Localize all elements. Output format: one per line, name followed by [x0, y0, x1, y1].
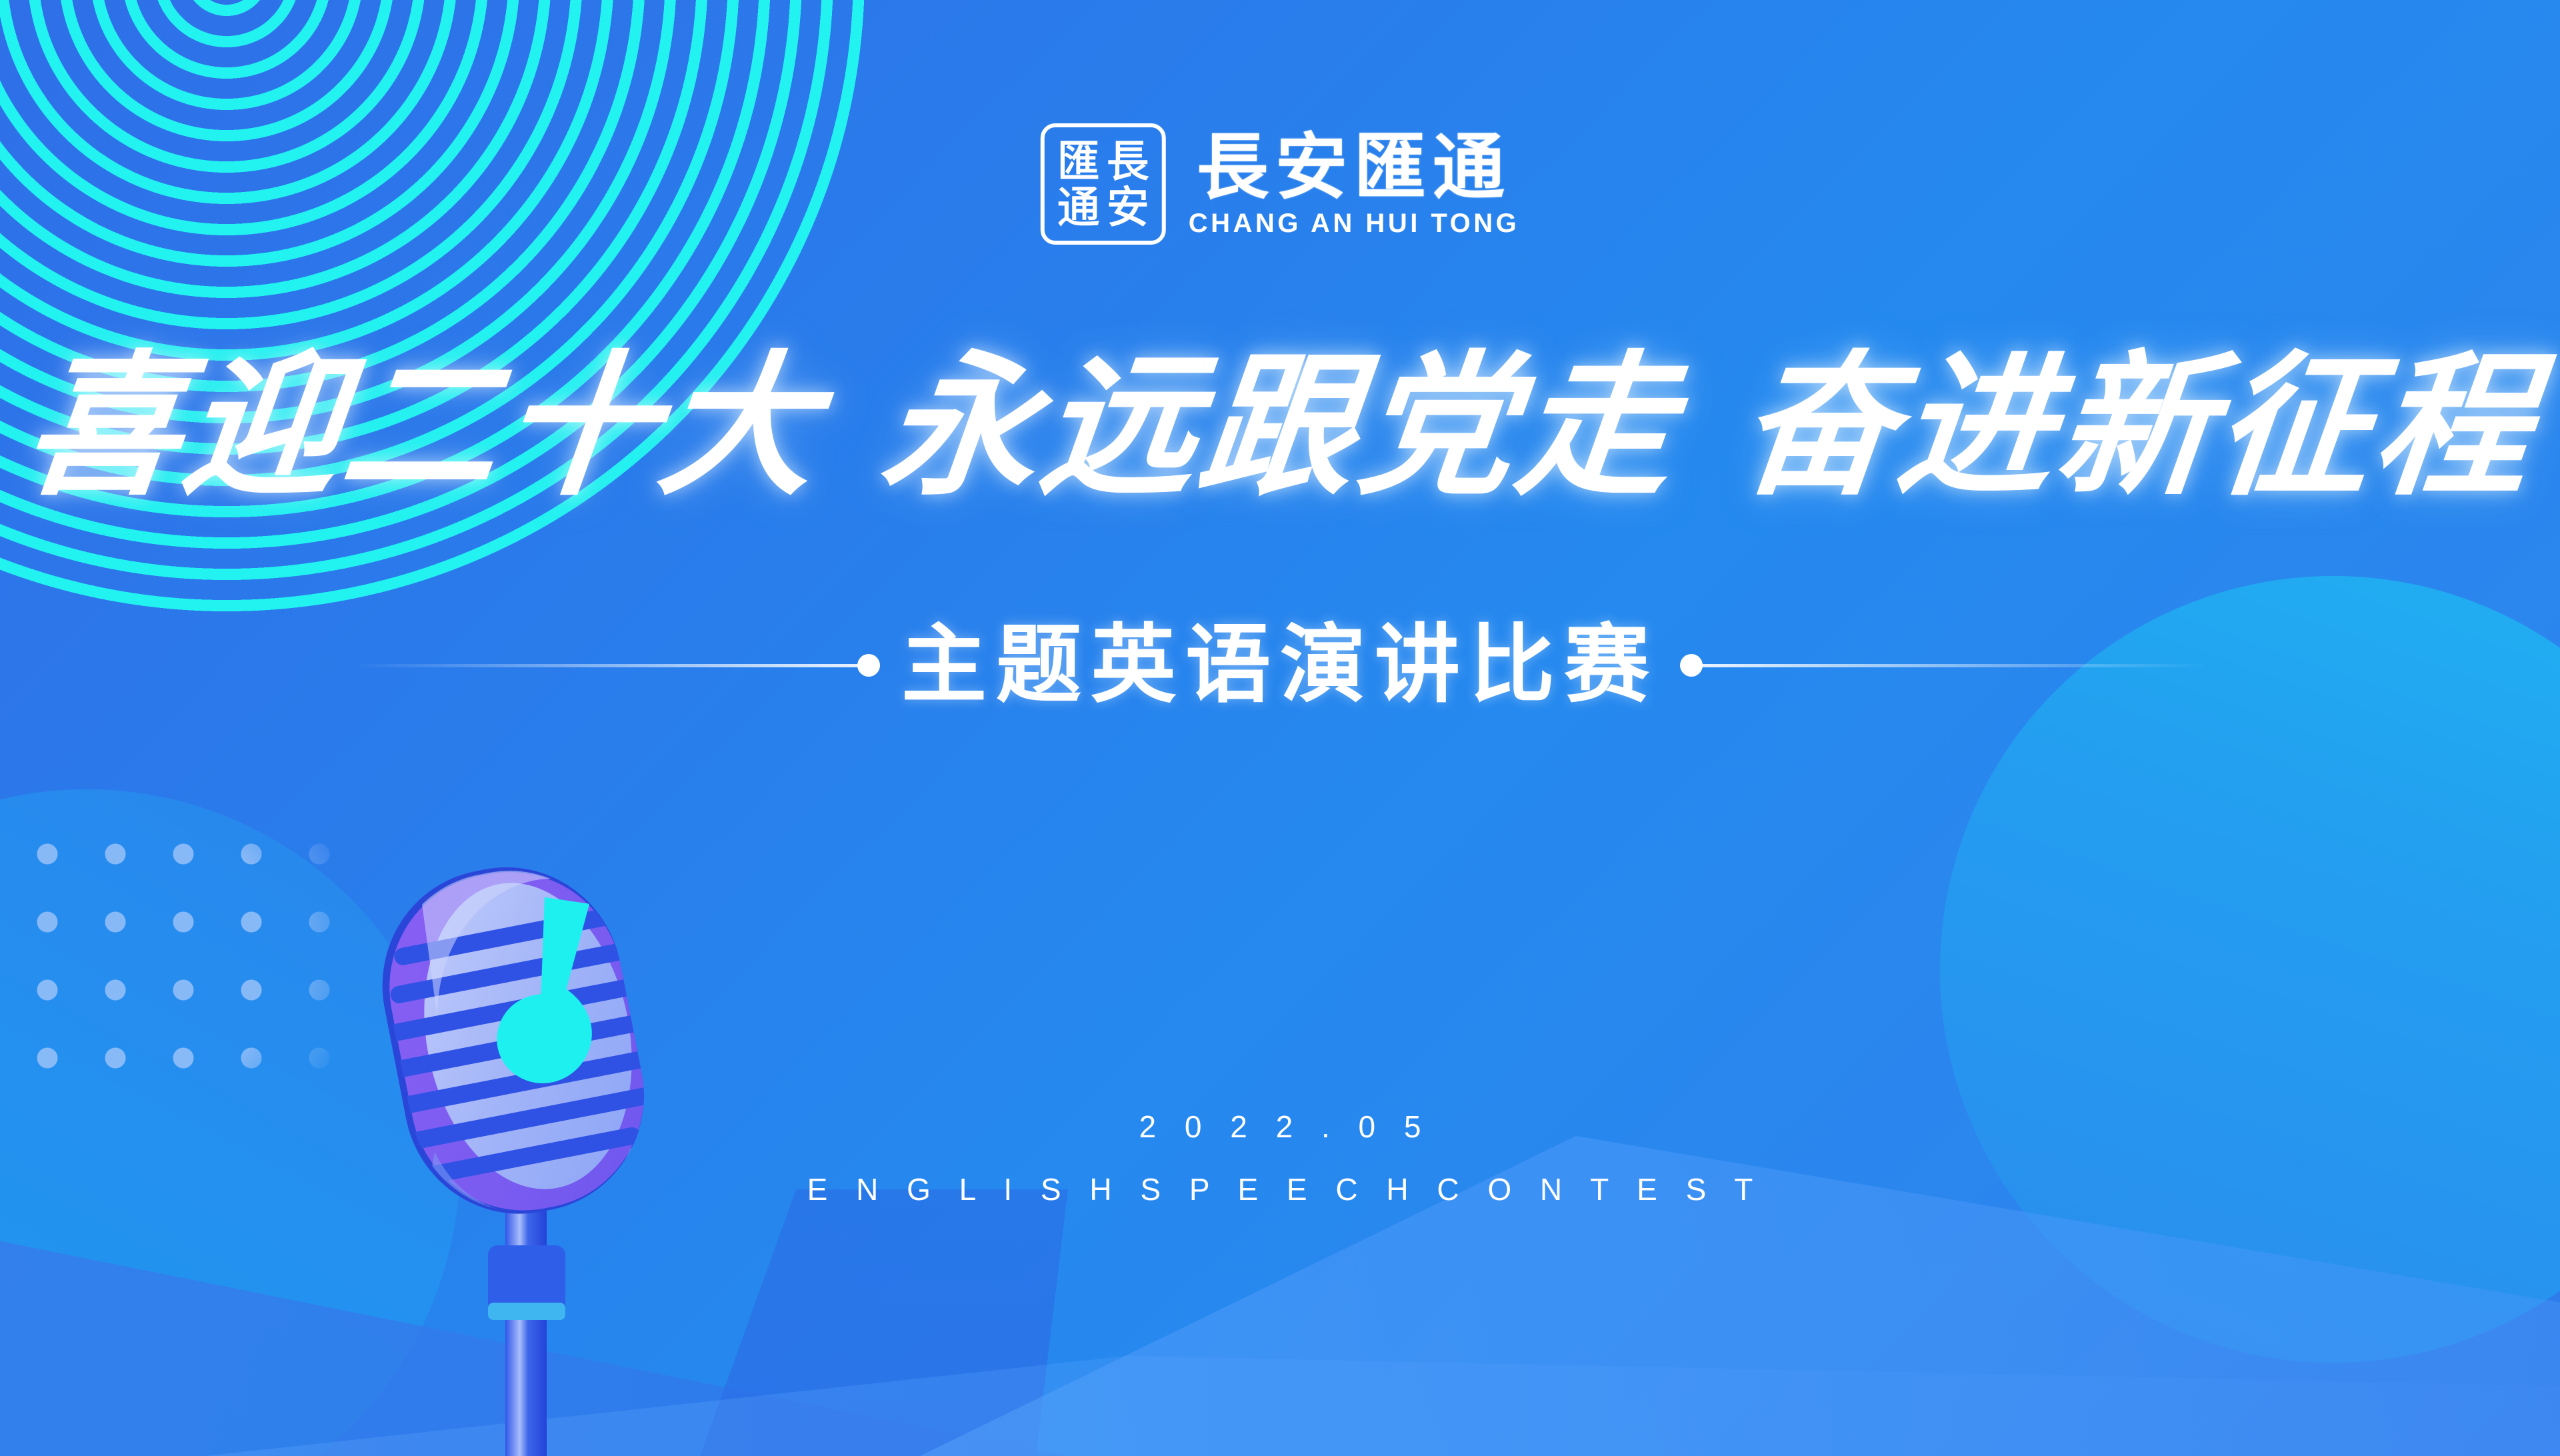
brand-name-en: CHANG AN HUI TONG — [1189, 209, 1520, 238]
rule-dot-left-icon — [857, 654, 880, 677]
seal-char-1: 匯 — [1055, 139, 1102, 183]
subtitle-rule-left — [353, 664, 873, 667]
subtitle-text: 主题英语演讲比赛 — [901, 620, 1659, 711]
rule-dot-right-icon — [1680, 654, 1703, 677]
event-english-title: E N G L I S H S P E E C H C O N T E S T — [797, 1173, 1763, 1206]
headline-segment-1: 喜迎二十大 — [17, 347, 827, 507]
headline-segment-3: 奋进新征程 — [1732, 347, 2542, 507]
concentric-arcs-decor — [0, 0, 880, 627]
seal-logo-icon: 匯 長 通 安 — [1041, 123, 1166, 245]
poster-canvas: 匯 長 通 安 長安匯通 CHANG AN HUI TONG 喜迎二十大 永远跟… — [0, 0, 2560, 1456]
subtitle-row: 主题英语演讲比赛 — [0, 620, 2560, 711]
brand-logo: 匯 長 通 安 長安匯通 CHANG AN HUI TONG — [1041, 123, 1520, 245]
seal-char-2: 長 — [1105, 139, 1151, 183]
subtitle-rule-right — [1687, 664, 2207, 667]
mic-stand-ring — [488, 1303, 565, 1320]
bottom-polygon-b — [700, 1189, 1500, 1456]
brand-wordmark: 長安匯通 CHANG AN HUI TONG — [1189, 130, 1520, 238]
dot-grid-decor — [13, 820, 360, 1107]
headline-row: 喜迎二十大 永远跟党走 奋进新征程 — [0, 347, 2560, 507]
headline-segment-2: 永远跟党走 — [875, 347, 1685, 507]
seal-char-4: 安 — [1105, 185, 1151, 229]
brand-name-cn: 長安匯通 — [1197, 130, 1511, 205]
event-date: 2 0 2 2 . 0 5 — [1129, 1110, 1431, 1143]
microphone-illustration — [373, 860, 680, 1456]
seal-char-3: 通 — [1055, 185, 1102, 229]
